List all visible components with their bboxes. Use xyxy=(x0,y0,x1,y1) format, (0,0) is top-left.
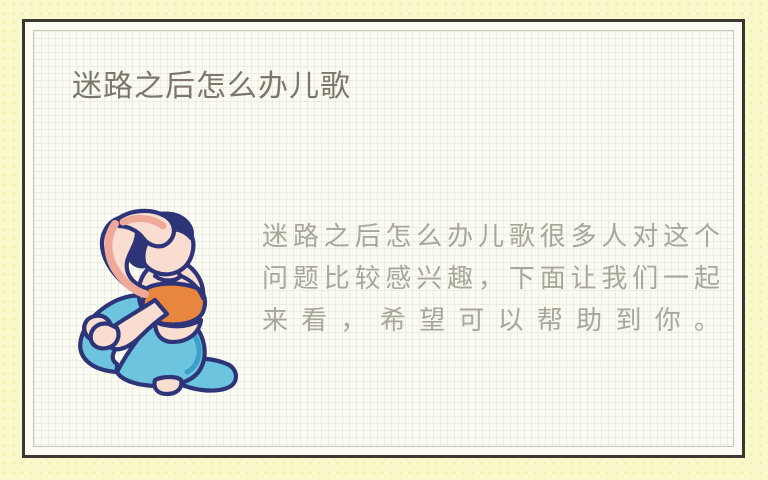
page-title: 迷路之后怎么办儿歌 xyxy=(72,69,351,105)
article-panel: 迷路之后怎么办儿歌 xyxy=(33,30,734,447)
article-body-text: 迷路之后怎么办儿歌很多人对这个问题比较感兴趣，下面让我们一起来看，希望可以帮助到… xyxy=(262,216,724,342)
yoga-pose-icon xyxy=(59,196,244,401)
article-frame: 迷路之后怎么办儿歌 xyxy=(22,19,745,458)
yoga-pose-illustration xyxy=(59,196,244,401)
article-content: 迷路之后怎么办儿歌很多人对这个问题比较感兴趣，下面让我们一起来看，希望可以帮助到… xyxy=(34,181,733,411)
page-canvas: 迷路之后怎么办儿歌 xyxy=(0,0,768,480)
